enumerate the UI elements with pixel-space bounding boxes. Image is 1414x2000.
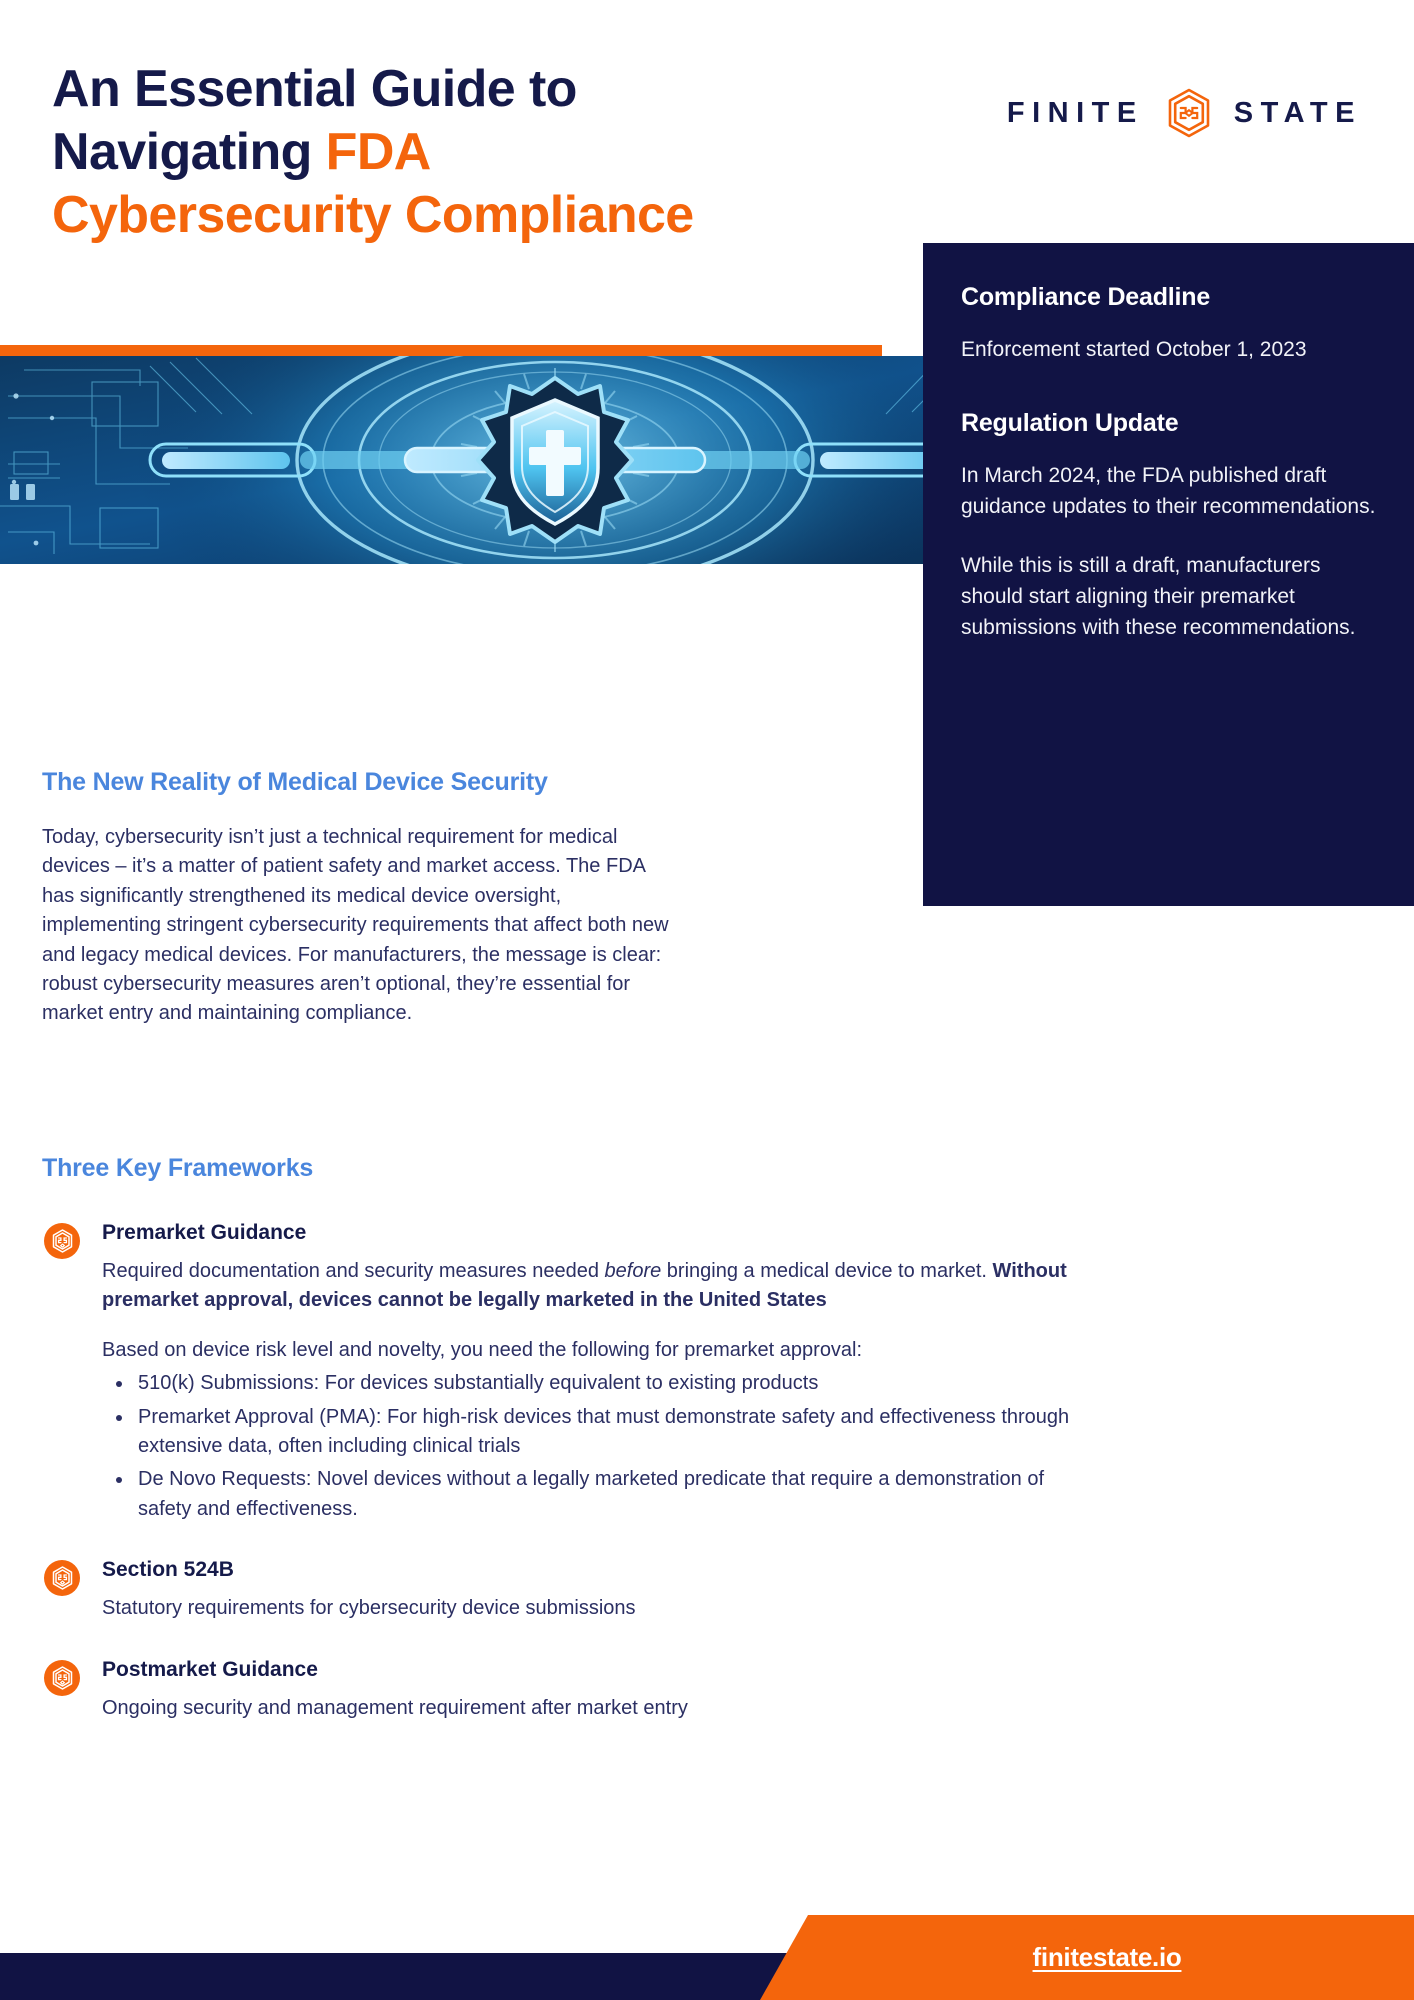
framework-item-section-524b: Section 524B Statutory requirements for … — [42, 1558, 1082, 1623]
logo-word-finite: FINITE — [1007, 97, 1144, 130]
title-line-2: Navigating FDA — [52, 121, 882, 184]
finite-state-hexagon-icon — [44, 1560, 80, 1596]
finite-state-hexagon-logo-icon — [1166, 88, 1212, 138]
title-line-2-accent: FDA — [326, 123, 431, 181]
list-item: Premarket Approval (PMA): For high-risk … — [102, 1403, 1082, 1462]
finitestate-website-link[interactable]: finitestate.io — [1033, 1942, 1182, 1973]
framework-desc-pre: Required documentation and security meas… — [102, 1260, 605, 1282]
title-line-2-main: Navigating — [52, 123, 326, 181]
framework-bullet-list: 510(k) Submissions: For devices substant… — [102, 1369, 1082, 1524]
new-reality-section: The New Reality of Medical Device Securi… — [42, 768, 682, 1029]
regulation-update-heading: Regulation Update — [961, 409, 1376, 438]
sidebar-spacer-2 — [961, 522, 1376, 550]
compliance-sidebar-panel: Compliance Deadline Enforcement started … — [923, 243, 1414, 906]
logo-word-state: STATE — [1234, 97, 1362, 130]
framework-title: Section 524B — [102, 1558, 1082, 1582]
finite-state-hexagon-icon — [44, 1223, 80, 1259]
finite-state-hexagon-icon — [44, 1660, 80, 1696]
list-item: 510(k) Submissions: For devices substant… — [102, 1369, 1082, 1398]
framework-desc-mid: bringing a medical device to market. — [661, 1260, 992, 1282]
framework-title: Postmarket Guidance — [102, 1658, 1082, 1682]
page-title: An Essential Guide to Navigating FDA Cyb… — [52, 58, 882, 247]
framework-desc-emphasis: before — [605, 1260, 662, 1282]
framework-title: Premarket Guidance — [102, 1221, 1082, 1245]
list-item: De Novo Requests: Novel devices without … — [102, 1465, 1082, 1524]
compliance-deadline-body: Enforcement started October 1, 2023 — [961, 334, 1376, 365]
title-line-1: An Essential Guide to — [52, 58, 882, 121]
framework-description: Ongoing security and management requirem… — [102, 1694, 1082, 1723]
poster-page: An Essential Guide to Navigating FDA Cyb… — [0, 0, 1414, 2000]
brand-logo: FINITE STATE — [1007, 88, 1362, 138]
framework-sub-intro: Based on device risk level and novelty, … — [102, 1336, 1082, 1365]
footer-link-wrap: finitestate.io — [760, 1915, 1414, 2000]
new-reality-body: Today, cybersecurity isn’t just a techni… — [42, 823, 682, 1029]
title-line-3: Cybersecurity Compliance — [52, 184, 882, 247]
regulation-update-paragraph-2: While this is still a draft, manufacture… — [961, 550, 1376, 643]
compliance-deadline-heading: Compliance Deadline — [961, 283, 1376, 312]
three-key-frameworks-section: Three Key Frameworks Premarket Guidance — [42, 1154, 1082, 1757]
new-reality-heading: The New Reality of Medical Device Securi… — [42, 768, 682, 797]
frameworks-heading: Three Key Frameworks — [42, 1154, 1082, 1183]
regulation-update-paragraph-1: In March 2024, the FDA published draft g… — [961, 460, 1376, 522]
framework-description: Required documentation and security meas… — [102, 1257, 1082, 1316]
framework-item-postmarket-guidance: Postmarket Guidance Ongoing security and… — [42, 1658, 1082, 1723]
sidebar-spacer — [961, 365, 1376, 409]
orange-divider-rule — [0, 345, 882, 356]
framework-description: Statutory requirements for cybersecurity… — [102, 1594, 1082, 1623]
framework-item-premarket-guidance: Premarket Guidance Required documentatio… — [42, 1221, 1082, 1524]
